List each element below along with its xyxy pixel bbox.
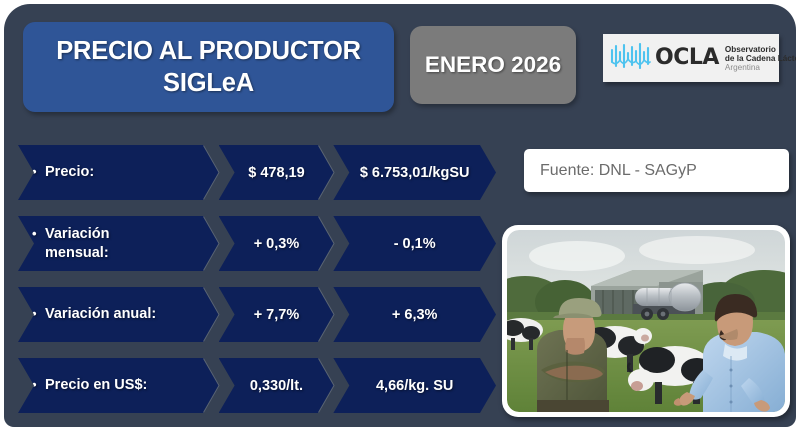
metric-label-text: •Precio: (32, 163, 94, 182)
metric-label-cell: •Variación anual: (18, 287, 220, 342)
period-label: ENERO 2026 (425, 52, 561, 78)
metric-label-cell: •Precio: (18, 145, 220, 200)
logo-subtitle-line-1: Observatorio (725, 45, 796, 54)
metric-value-cell-primary: + 7,7% (219, 287, 335, 342)
infographic-card: PRECIO AL PRODUCTOR SIGLeA ENERO 2026 OC… (4, 4, 796, 427)
metric-value-2: - 0,1% (394, 236, 436, 252)
table-row: •Precio en US$: 0,330/lt. 4,66/kg. SU (18, 358, 496, 413)
source-note: Fuente: DNL - SAGyP (524, 149, 789, 192)
logo-subtitle-line-2: de la Cadena Láctea (725, 54, 796, 63)
infographic-root: PRECIO AL PRODUCTOR SIGLeA ENERO 2026 OC… (0, 0, 800, 431)
bullet-icon: • (32, 306, 45, 323)
metric-value-cell-secondary: $ 6.753,01/kgSU (333, 145, 496, 200)
table-row: •Precio: $ 478,19 $ 6.753,01/kgSU (18, 145, 496, 200)
metric-label-text: •Precio en US$: (32, 376, 147, 395)
metric-value-cell-primary: + 0,3% (219, 216, 335, 271)
metric-value-cell-secondary: 4,66/kg. SU (333, 358, 496, 413)
metric-value-1: $ 478,19 (248, 165, 304, 181)
metric-value-1: 0,330/lt. (250, 378, 303, 394)
source-text: Fuente: DNL - SAGyP (540, 162, 697, 180)
bullet-icon: • (32, 377, 45, 394)
metric-value-cell-secondary: + 6,3% (333, 287, 496, 342)
metric-value-1: + 7,7% (254, 307, 300, 323)
metric-label-cell: •Precio en US$: (18, 358, 220, 413)
metric-label-line-1: Variación (45, 226, 109, 242)
sound-wave-icon (610, 43, 652, 74)
metrics-list: •Precio: $ 478,19 $ 6.753,01/kgSU •Varia… (18, 145, 496, 427)
logo-subtitle-line-3: Argentina (725, 63, 796, 72)
metric-value-2: 4,66/kg. SU (376, 378, 453, 394)
logo-subtitle: Observatorio de la Cadena Láctea Argenti… (725, 44, 796, 73)
metric-label-line-1: Precio en US$: (45, 377, 147, 393)
metric-label-text: •Variación anual: (32, 305, 156, 324)
metric-label-line-1: Variación anual: (45, 306, 156, 322)
photo-frame (502, 225, 790, 417)
metric-label-line-1: Precio: (45, 164, 94, 180)
table-row: •Variación anual: + 7,7% + 6,3% (18, 287, 496, 342)
metric-label-line-2: mensual: (32, 244, 109, 263)
bullet-icon: • (32, 226, 45, 243)
logo-wordmark: OCLA (655, 47, 719, 69)
farm-photo (507, 230, 785, 412)
title-text-wrapper: PRECIO AL PRODUCTOR SIGLeA (56, 35, 361, 100)
period-badge: ENERO 2026 (410, 26, 576, 104)
metric-value-cell-primary: $ 478,19 (219, 145, 335, 200)
ocla-logo: OCLA Observatorio de la Cadena Láctea Ar… (603, 34, 779, 82)
bullet-icon: • (32, 164, 45, 181)
metric-value-2: $ 6.753,01/kgSU (360, 165, 470, 181)
metric-value-cell-secondary: - 0,1% (333, 216, 496, 271)
metric-label-text: •Variación mensual: (32, 225, 109, 262)
metric-value-1: + 0,3% (254, 236, 300, 252)
table-row: •Variación mensual: + 0,3% - 0,1% (18, 216, 496, 271)
metric-value-2: + 6,3% (392, 307, 438, 323)
title-line-1: PRECIO AL PRODUCTOR (56, 37, 361, 65)
metric-value-cell-primary: 0,330/lt. (219, 358, 335, 413)
title-line-2: SIGLeA (163, 69, 254, 97)
metric-label-cell: •Variación mensual: (18, 216, 220, 271)
page-title: PRECIO AL PRODUCTOR SIGLeA (23, 22, 394, 112)
